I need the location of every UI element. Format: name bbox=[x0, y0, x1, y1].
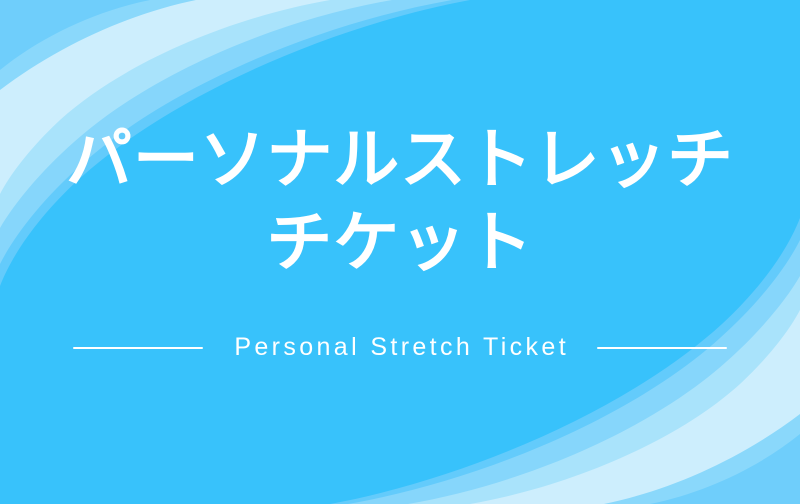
banner-subtitle-row: Personal Stretch Ticket bbox=[0, 335, 800, 360]
banner-title: パーソナルストレッチ チケット bbox=[66, 118, 734, 283]
subtitle-rule-right bbox=[597, 347, 727, 349]
title-line-1: パーソナルストレッチ bbox=[66, 118, 734, 201]
title-line-2: チケット bbox=[66, 201, 734, 284]
banner-subtitle: Personal Stretch Ticket bbox=[231, 335, 569, 360]
subtitle-rule-left bbox=[73, 347, 203, 349]
stretch-ticket-banner: パーソナルストレッチ チケット Personal Stretch Ticket bbox=[0, 0, 800, 504]
banner-content: パーソナルストレッチ チケット Personal Stretch Ticket bbox=[0, 0, 800, 504]
